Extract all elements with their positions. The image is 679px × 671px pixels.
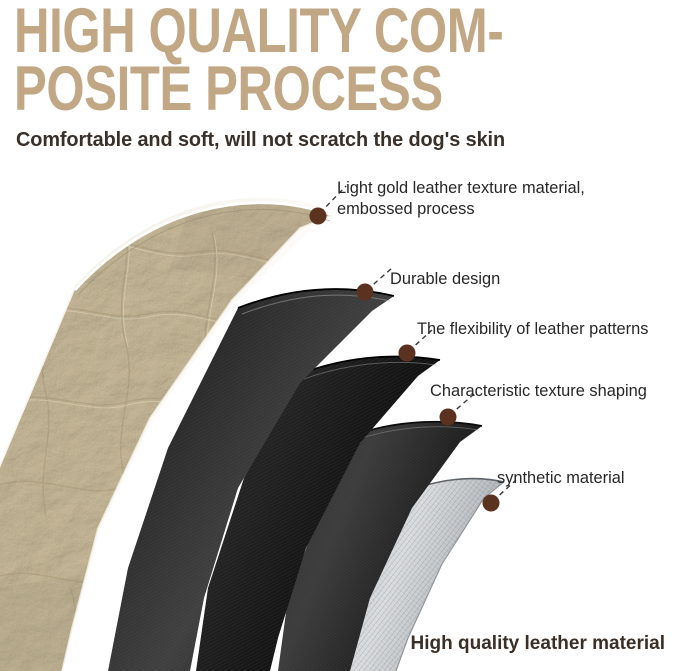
page-title: High Quality Com- posite Process: [14, 2, 529, 118]
material-illustration: [0, 168, 679, 671]
callout-light-gold-label: Light gold leather texture material, emb…: [337, 178, 585, 220]
callout-dot-5: [483, 495, 500, 512]
callout-durable-design-label: Durable design: [390, 269, 500, 290]
callout-texture-shaping-label: Characteristic texture shaping: [430, 381, 647, 402]
callout-dot-1: [310, 208, 327, 225]
page-subtitle: Comfortable and soft, will not scratch t…: [16, 128, 505, 152]
callout-synthetic-material-label: synthetic material: [497, 468, 625, 489]
bottom-caption: High quality leather material: [411, 633, 665, 655]
infographic-page: High Quality Com- posite Process Comfort…: [0, 0, 679, 671]
callout-dot-2: [357, 284, 374, 301]
callout-dot-4: [440, 409, 457, 426]
header-block: High Quality Com- posite Process Comfort…: [0, 0, 679, 172]
callout-dot-3: [399, 345, 416, 362]
layered-material-svg: [0, 168, 679, 671]
callout-flexibility-label: The flexibility of leather patterns: [417, 319, 648, 340]
